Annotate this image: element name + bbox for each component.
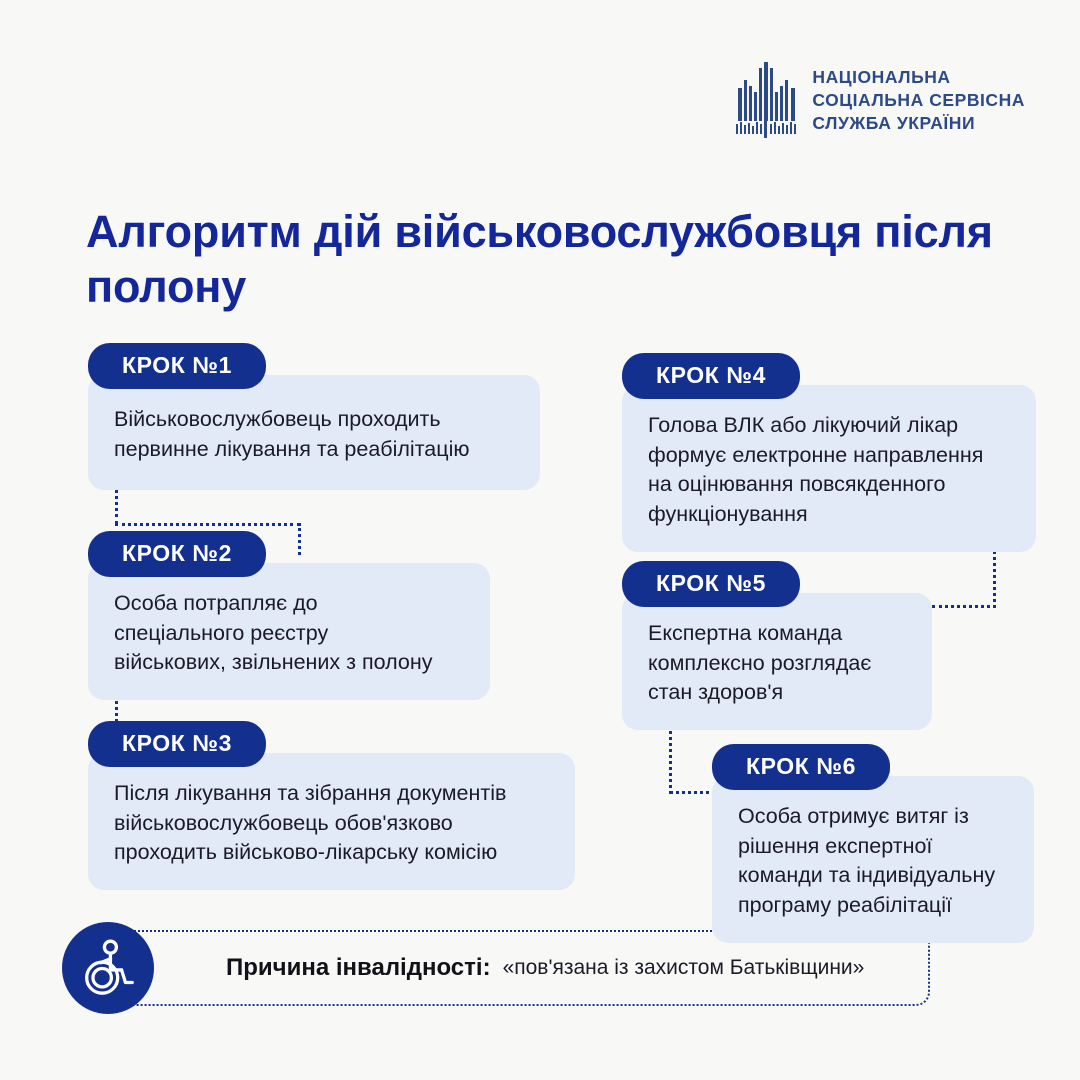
- infographic-page: НАЦІОНАЛЬНА СОЦІАЛЬНА СЕРВІСНА СЛУЖБА УК…: [0, 0, 1080, 1080]
- connector-step4-step5-across: [932, 605, 996, 608]
- step-1-text: Військовослужбовець проходить первинне л…: [114, 405, 514, 464]
- step-2-text: Особа потрапляє до спеціального реєстру …: [114, 589, 464, 678]
- footer-label: Причина інвалідності:: [226, 954, 491, 982]
- step-5-text: Експертна команда комплексно розглядає с…: [648, 619, 906, 708]
- step-card-1: КРОК №1 Військовослужбовець проходить пе…: [88, 343, 540, 490]
- brand-logo: НАЦІОНАЛЬНА СОЦІАЛЬНА СЕРВІСНА СЛУЖБА УК…: [736, 62, 1025, 138]
- nssu-bars-logo-icon: [736, 62, 798, 138]
- step-3-body: Після лікування та зібрання документів в…: [88, 753, 575, 890]
- step-card-6: КРОК №6 Особа отримує витяг із рішення е…: [712, 744, 1034, 943]
- page-title: Алгоритм дій військовослужбовця після по…: [86, 205, 1016, 315]
- brand-text: НАЦІОНАЛЬНА СОЦІАЛЬНА СЕРВІСНА СЛУЖБА УК…: [812, 67, 1025, 134]
- step-3-tab[interactable]: КРОК №3: [88, 721, 266, 767]
- step-card-5: КРОК №5 Експертна команда комплексно роз…: [622, 561, 932, 730]
- step-6-tab[interactable]: КРОК №6: [712, 744, 890, 790]
- step-4-text: Голова ВЛК або лікуючий лікар формує еле…: [648, 411, 1010, 530]
- step-5-tab[interactable]: КРОК №5: [622, 561, 800, 607]
- step-2-tab[interactable]: КРОК №2: [88, 531, 266, 577]
- step-card-2: КРОК №2 Особа потрапляє до спеціального …: [88, 531, 490, 700]
- brand-line-2: СОЦІАЛЬНА СЕРВІСНА: [812, 90, 1025, 111]
- wheelchair-accessibility-icon: [62, 922, 154, 1014]
- connector-step1-step2-down-b: [298, 523, 301, 555]
- step-3-text: Після лікування та зібрання документів в…: [114, 779, 549, 868]
- connector-step1-step2-across: [115, 523, 300, 526]
- step-2-body: Особа потрапляє до спеціального реєстру …: [88, 563, 490, 700]
- step-6-body: Особа отримує витяг із рішення експертно…: [712, 776, 1034, 943]
- brand-line-1: НАЦІОНАЛЬНА: [812, 67, 1025, 88]
- step-4-tab[interactable]: КРОК №4: [622, 353, 800, 399]
- step-card-3: КРОК №3 Після лікування та зібрання доку…: [88, 721, 575, 890]
- step-1-body: Військовослужбовець проходить первинне л…: [88, 375, 540, 490]
- step-1-tab[interactable]: КРОК №1: [88, 343, 266, 389]
- step-5-body: Експертна команда комплексно розглядає с…: [622, 593, 932, 730]
- connector-step5-step6-across: [669, 791, 717, 794]
- step-4-body: Голова ВЛК або лікуючий лікар формує еле…: [622, 385, 1036, 552]
- step-card-4: КРОК №4 Голова ВЛК або лікуючий лікар фо…: [622, 353, 1036, 552]
- step-6-text: Особа отримує витяг із рішення експертно…: [738, 802, 1008, 921]
- footer-value: «пов'язана із захистом Батьківщини»: [503, 956, 865, 980]
- brand-line-3: СЛУЖБА УКРАЇНИ: [812, 113, 1025, 134]
